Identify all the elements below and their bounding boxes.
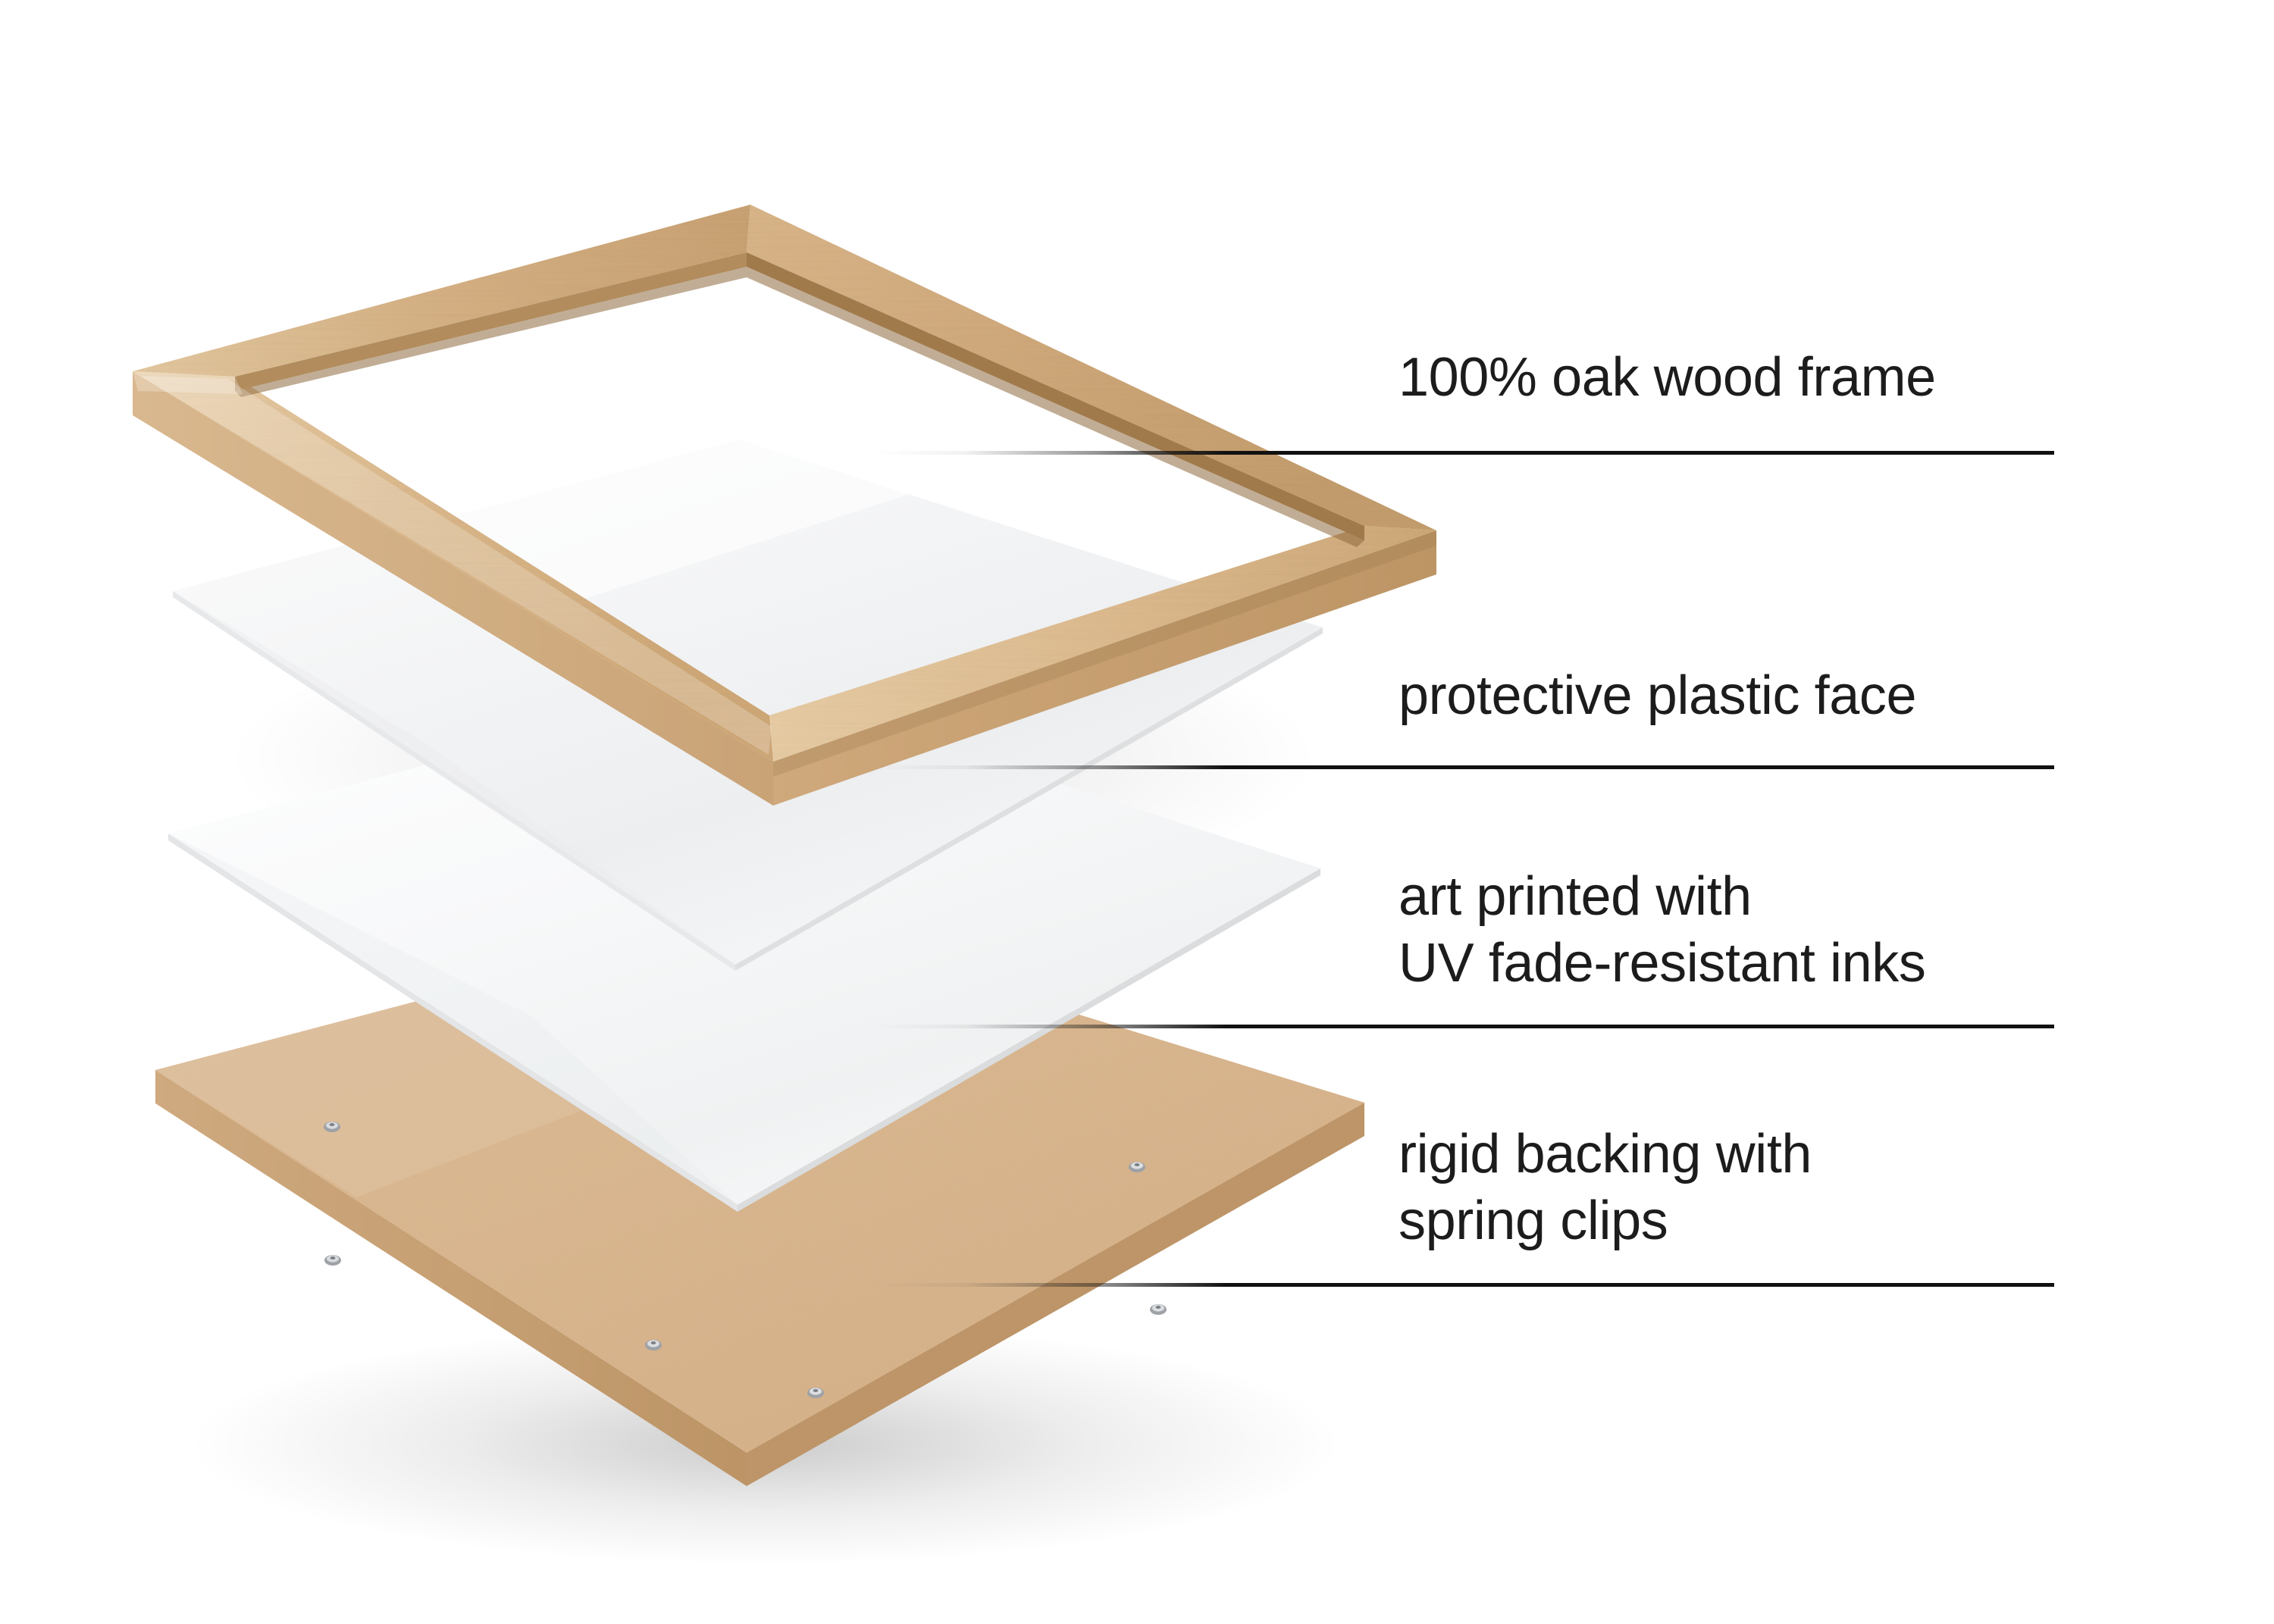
spring-clip <box>324 1122 340 1132</box>
product-illustration <box>0 0 2274 1624</box>
spring-clip <box>1150 1304 1167 1315</box>
callout-label-backing: rigid backing with spring clips <box>1399 1122 2232 1255</box>
spring-clip <box>324 1255 341 1266</box>
callout-label-plastic: protective plastic face <box>1399 663 2232 730</box>
callout-backing: rigid backing with spring clips <box>1399 1122 2232 1255</box>
callout-plastic: protective plastic face <box>1399 663 2232 730</box>
callout-art: art printed with UV fade-resistant inks <box>1399 864 2232 997</box>
callout-label-art: art printed with UV fade-resistant inks <box>1399 864 2232 997</box>
leader-line-plastic <box>872 765 2054 769</box>
callout-label-frame: 100% oak wood frame <box>1399 345 2232 411</box>
spring-clip <box>807 1388 824 1398</box>
spring-clip <box>645 1340 662 1350</box>
exploded-frame-diagram: 100% oak wood frame protective plastic f… <box>0 0 2274 1624</box>
leader-line-frame <box>872 451 2054 455</box>
frame-inner-wall-top-left <box>235 252 747 391</box>
spring-clip <box>1129 1162 1145 1172</box>
callout-frame: 100% oak wood frame <box>1399 345 2232 411</box>
leader-line-art <box>872 1025 2054 1028</box>
leader-line-backing <box>872 1283 2054 1287</box>
